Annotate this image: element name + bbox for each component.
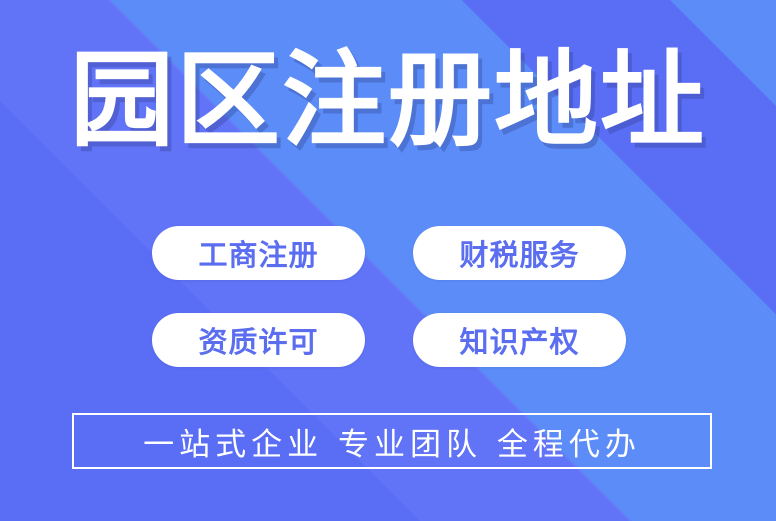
service-pill-row: 工商注册 财税服务 <box>152 226 626 280</box>
service-pill-qualification-license[interactable]: 资质许可 <box>152 313 365 367</box>
service-pill-business-registration[interactable]: 工商注册 <box>152 226 365 280</box>
tagline-banner: 一站式企业 专业团队 全程代办 <box>72 413 712 469</box>
poster-root: 园区注册地址 工商注册 财税服务 资质许可 知识产权 一站式企业 专业团队 全程… <box>0 0 776 521</box>
service-pill-finance-tax[interactable]: 财税服务 <box>413 226 626 280</box>
service-pill-intellectual-property[interactable]: 知识产权 <box>413 313 626 367</box>
service-pill-grid: 工商注册 财税服务 资质许可 知识产权 <box>152 226 626 400</box>
tagline-banner-text: 一站式企业 专业团队 全程代办 <box>143 419 641 464</box>
page-title: 园区注册地址 <box>0 44 776 156</box>
service-pill-row: 资质许可 知识产权 <box>152 313 626 367</box>
